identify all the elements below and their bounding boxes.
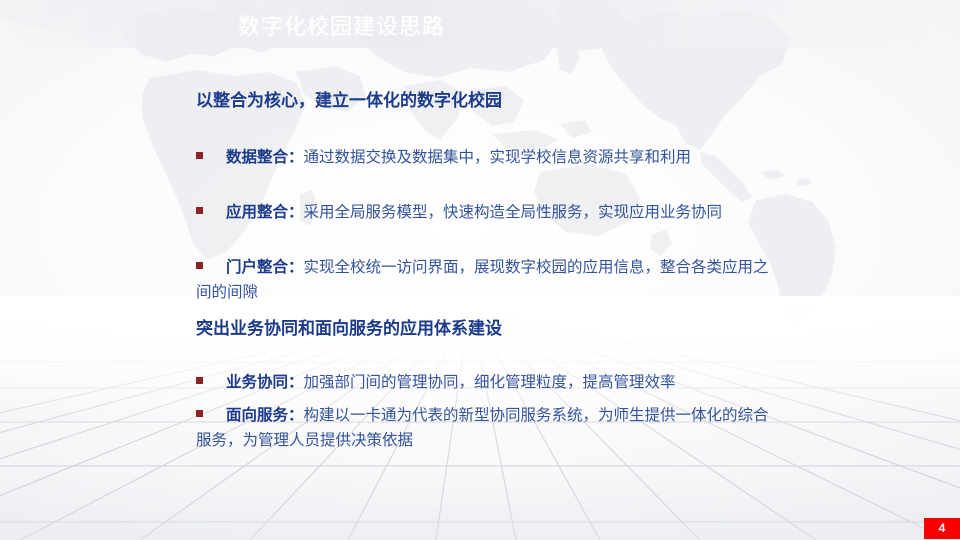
bullet-text: 门户整合：实现全校统一访问界面，展现数字校园的应用信息，整合各类应用之间的间隙 (196, 255, 772, 305)
bullet-body: 通过数据交换及数据集中，实现学校信息资源共享和利用 (304, 149, 692, 166)
slide-canvas: 数字化校园建设思路 以整合为核心，建立一体化的数字化校园 数据整合：通过数据交换… (0, 0, 960, 540)
bullet-item-application-integration: 应用整合：采用全局服务模型，快速构造全局性服务，实现应用业务协同 (196, 200, 772, 225)
bullet-text: 数据整合：通过数据交换及数据集中，实现学校信息资源共享和利用 (196, 145, 772, 170)
bullet-lead: 业务协同： (226, 374, 304, 391)
bullet-item-portal-integration: 门户整合：实现全校统一访问界面，展现数字校园的应用信息，整合各类应用之间的间隙 (196, 255, 772, 305)
bullet-body: 加强部门间的管理协同，细化管理粒度，提高管理效率 (304, 374, 676, 391)
bullet-body: 采用全局服务模型，快速构造全局性服务，实现应用业务协同 (304, 204, 723, 221)
slide-content: 以整合为核心，建立一体化的数字化校园 数据整合：通过数据交换及数据集中，实现学校… (0, 0, 960, 540)
bullet-square-icon (196, 410, 203, 417)
bullet-lead: 面向服务： (226, 407, 304, 424)
bullet-lead: 数据整合： (226, 149, 304, 166)
bullet-square-icon (196, 262, 203, 269)
section-heading-1: 以整合为核心，建立一体化的数字化校园 (196, 89, 502, 113)
bullet-text: 业务协同：加强部门间的管理协同，细化管理粒度，提高管理效率 (196, 370, 772, 395)
bullet-square-icon (196, 377, 203, 384)
page-number-badge: 4 (924, 518, 960, 539)
bullet-square-icon (196, 207, 203, 214)
bullet-item-data-integration: 数据整合：通过数据交换及数据集中，实现学校信息资源共享和利用 (196, 145, 772, 170)
bullet-text: 应用整合：采用全局服务模型，快速构造全局性服务，实现应用业务协同 (196, 200, 772, 225)
bullet-square-icon (196, 152, 203, 159)
bullet-text: 面向服务：构建以一卡通为代表的新型协同服务系统，为师生提供一体化的综合服务，为管… (196, 403, 772, 453)
bullet-lead: 应用整合： (226, 204, 304, 221)
bullet-item-service-oriented: 面向服务：构建以一卡通为代表的新型协同服务系统，为师生提供一体化的综合服务，为管… (196, 403, 772, 453)
bullet-item-business-collaboration: 业务协同：加强部门间的管理协同，细化管理粒度，提高管理效率 (196, 370, 772, 395)
section-heading-2: 突出业务协同和面向服务的应用体系建设 (196, 317, 502, 341)
bullet-lead: 门户整合： (226, 259, 304, 276)
